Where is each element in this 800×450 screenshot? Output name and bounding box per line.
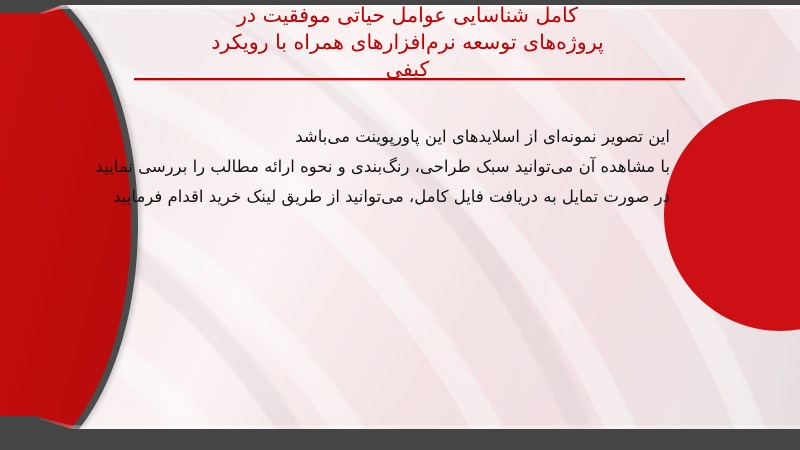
body-line-1: این تصویر نمونه‌ای از اسلایدهای این پاور… <box>110 122 670 152</box>
slide-body-text: این تصویر نمونه‌ای از اسلایدهای این پاور… <box>110 122 670 212</box>
slide-title: کامل شناسایی عوامل حیاتی موفقیت در پروژه… <box>120 2 695 83</box>
body-line-3: در صورت تمایل به دریافت فایل کامل، می‌تو… <box>110 182 670 212</box>
title-line-2: پروژه‌های توسعه نرم‌افزارهای همراه با رو… <box>120 29 695 56</box>
title-line-1: کامل شناسایی عوامل حیاتی موفقیت در <box>120 2 695 29</box>
slide-canvas: کامل شناسایی عوامل حیاتی موفقیت در پروژه… <box>0 0 800 450</box>
title-underline-rule <box>134 78 685 80</box>
body-line-2: با مشاهده آن می‌توانید سبک طراحی، رنگ‌بن… <box>110 152 670 182</box>
